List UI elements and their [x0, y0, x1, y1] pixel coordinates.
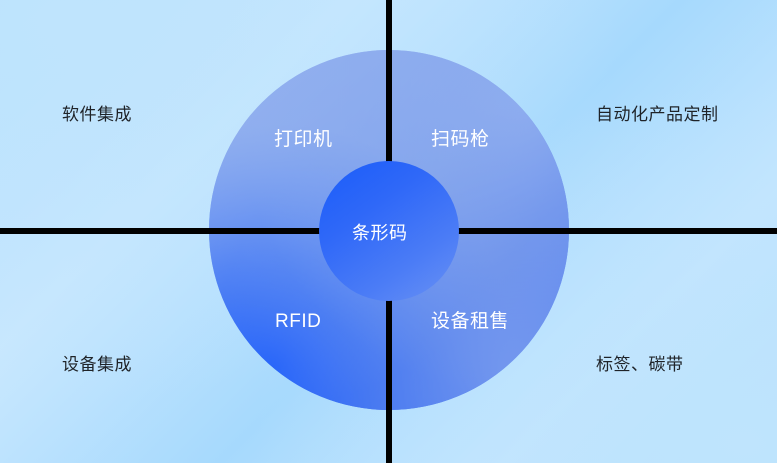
ring-label-bottom-right: 设备租售: [431, 312, 509, 331]
ring-label-bottom-left: RFID: [275, 312, 321, 331]
outer-label-bottom-right: 标签、碳带: [596, 356, 684, 373]
outer-label-top-left: 软件集成: [62, 106, 132, 123]
center-core-label: 条形码: [352, 224, 408, 242]
outer-label-top-right: 自动化产品定制: [596, 106, 719, 123]
ring-label-top-right: 扫码枪: [431, 130, 490, 149]
diagram-canvas: 打印机 扫码枪 RFID 设备租售 条形码 软件集成 自动化产品定制 设备集成 …: [0, 0, 777, 463]
outer-label-bottom-left: 设备集成: [62, 356, 132, 373]
ring-label-top-left: 打印机: [274, 130, 333, 149]
